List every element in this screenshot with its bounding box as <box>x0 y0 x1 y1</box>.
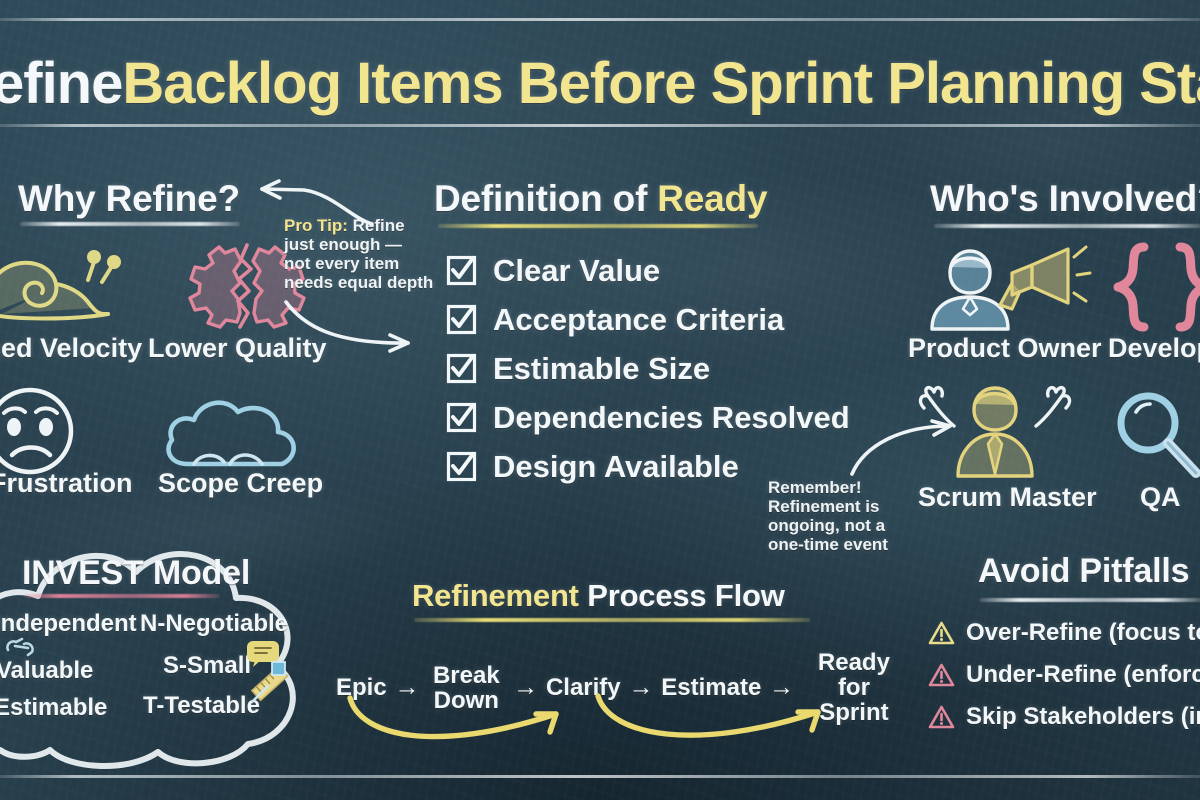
dor-heading-white: Definition of <box>434 178 657 219</box>
remember-line4: one-time event <box>768 535 888 554</box>
page-title-highlight: Backlog Items Before Sprint Planning Sta… <box>122 51 1200 116</box>
sad-face-icon <box>0 385 88 477</box>
ruler-icon <box>250 660 294 712</box>
pitfalls-list: Over-Refine (focus top 2 Under-Refine (e… <box>928 612 1200 738</box>
warning-triangle-icon <box>928 705 955 730</box>
pro-tip-line4: needs equal depth <box>284 273 433 292</box>
page-title-lead: efine <box>0 51 122 116</box>
remember-note: Remember! Refinement is ongoing, not a o… <box>768 478 888 554</box>
snail-icon <box>0 240 132 330</box>
section-heading-whos-involved: Who's Involved? <box>930 178 1200 220</box>
dor-checklist: Clear Value Acceptance Criteria Estimabl… <box>446 246 850 491</box>
underline-pitfalls <box>980 598 1200 602</box>
dor-item-label-0: Clear Value <box>493 253 660 289</box>
dor-heading-accent: Ready <box>657 178 767 219</box>
underline-why-refine <box>20 222 240 226</box>
why-refine-label-2: Frustration <box>0 468 133 499</box>
checkbox-checked-icon <box>446 353 477 384</box>
underline-process-flow <box>414 618 810 622</box>
dor-item-2: Estimable Size <box>446 344 850 393</box>
chain-link-icon <box>2 636 42 658</box>
pitfall-item-1: Under-Refine (enforce D <box>928 654 1200 696</box>
invest-left-item-1: Valuable <box>0 657 93 685</box>
underline-invest <box>24 594 220 598</box>
checkbox-checked-icon <box>446 255 477 286</box>
pitfall-text-1: Under-Refine (enforce D <box>966 661 1200 689</box>
flow-heading-accent: Refinement <box>412 578 579 613</box>
checkbox-checked-icon <box>446 304 477 335</box>
flow-heading-white: Process Flow <box>579 578 785 613</box>
flow-loop-arrow-2-icon <box>592 694 852 756</box>
invest-right-item-2: T-Testable <box>143 692 260 720</box>
section-heading-process-flow: Refinement Process Flow <box>412 578 785 614</box>
section-heading-invest: INVEST Model <box>22 554 250 593</box>
person-megaphone-icon <box>920 243 1090 333</box>
section-heading-why-refine: Why Refine? <box>18 178 240 220</box>
pro-tip-line2: just enough — <box>284 235 433 254</box>
invest-right-item-0: N-Negotiable <box>140 610 288 638</box>
pitfall-item-2: Skip Stakeholders (invit <box>928 696 1200 738</box>
flow-loop-arrow-1-icon <box>344 692 594 758</box>
page-title: efineBacklog Items Before Sprint Plannin… <box>0 50 1200 117</box>
dor-item-label-2: Estimable Size <box>493 351 710 387</box>
curly-braces-icon <box>1110 243 1200 331</box>
pro-tip-arrow-up-icon <box>248 178 378 228</box>
dor-item-0: Clear Value <box>446 246 850 295</box>
remember-line3: ongoing, not a <box>768 516 888 535</box>
pro-tip-arrow-down-icon <box>282 296 422 356</box>
frame-rule-top <box>0 18 1200 21</box>
pitfall-text-2: Skip Stakeholders (invit <box>966 703 1200 731</box>
underline-whos-involved <box>934 224 1200 228</box>
pitfall-text-0: Over-Refine (focus top 2 <box>966 619 1200 647</box>
role-label-2: Scrum Master <box>918 482 1097 513</box>
warning-triangle-icon <box>928 621 955 646</box>
checkbox-checked-icon <box>446 451 477 482</box>
invest-left-item-0: Independent <box>0 610 137 638</box>
dor-item-label-1: Acceptance Criteria <box>493 302 784 338</box>
invest-right-item-1: S-Small <box>163 652 251 680</box>
role-label-3: QA <box>1140 482 1181 513</box>
frame-rule-under-title <box>0 124 1200 127</box>
dor-item-1: Acceptance Criteria <box>446 295 850 344</box>
remember-line1: Remember! <box>768 478 888 497</box>
remember-line2: Refinement is <box>768 497 888 516</box>
person-arms-up-icon <box>912 382 1078 478</box>
invest-left-item-2: Estimable <box>0 694 107 722</box>
cloud-icon <box>158 388 308 474</box>
section-heading-definition-of-ready: Definition of Ready <box>434 178 767 220</box>
warning-triangle-icon <box>928 663 955 688</box>
pro-tip-line3: not every item <box>284 254 433 273</box>
section-heading-pitfalls: Avoid Pitfalls <box>978 552 1189 591</box>
underline-definition-of-ready <box>438 224 758 228</box>
dor-item-label-4: Design Available <box>493 449 739 485</box>
role-label-0: Product Owner <box>908 333 1102 364</box>
role-label-1: Develope <box>1108 333 1200 364</box>
pitfall-item-0: Over-Refine (focus top 2 <box>928 612 1200 654</box>
why-refine-label-3: Scope Creep <box>158 468 323 499</box>
dor-item-3: Dependencies Resolved <box>446 393 850 442</box>
why-refine-label-0: ced Velocity <box>0 333 142 364</box>
checkbox-checked-icon <box>446 402 477 433</box>
magnifier-icon <box>1106 385 1200 481</box>
dor-item-label-3: Dependencies Resolved <box>493 400 850 436</box>
